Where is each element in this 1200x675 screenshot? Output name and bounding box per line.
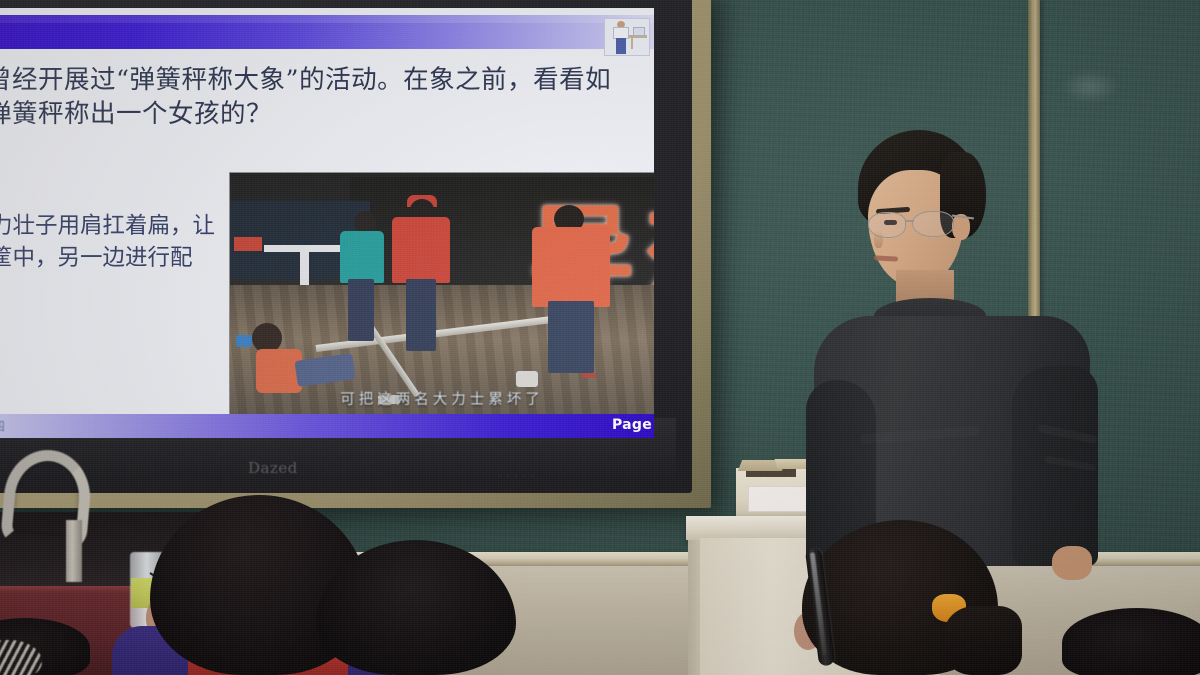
- person-torso: [532, 227, 610, 307]
- display-bezel-mark: · · · · ·: [498, 472, 578, 482]
- clipart-object: [633, 27, 645, 36]
- slide-question-text: 我们曾经开展过“弹簧秤称大象”的活动。在象之前，看看如何用弹簧秤称出一个女孩的？: [0, 63, 634, 131]
- signboard-red-bar: [234, 237, 262, 251]
- slide-header-glow: [0, 15, 654, 23]
- person-legs: [406, 279, 436, 351]
- slide-body: 我们曾经开展过“弹簧秤称大象”的活动。在象之前，看看如何用弹簧秤称出一个女孩的？…: [0, 53, 654, 423]
- clipart-person: [613, 21, 629, 55]
- display-brand-logo: Dazed: [248, 459, 368, 479]
- box-label: [748, 486, 808, 512]
- presentation-slide[interactable]: 我们曾经开展过“弹簧秤称大象”的活动。在象之前，看看如何用弹簧秤称出一个女孩的？…: [0, 8, 654, 438]
- person-legs: [548, 301, 594, 373]
- metal-stand-stem: [66, 520, 82, 582]
- slide-body-text: 两个身强力壮子用肩扛着扁，让女孩坐在筐中，另一边进行配平。: [0, 211, 220, 307]
- person-torso: [392, 217, 450, 283]
- video-person-red: [392, 199, 452, 349]
- video-person-teal: [338, 211, 386, 339]
- teacher-nose: [874, 230, 883, 248]
- glasses-bridge: [906, 220, 914, 222]
- video-white-object: [516, 371, 538, 387]
- person-legs: [348, 279, 374, 341]
- embedded-video-still[interactable]: 异 想: [230, 173, 654, 421]
- slide-red-heading: 学院队: [0, 183, 214, 207]
- glasses-lens-right: [912, 211, 954, 237]
- classroom-photo: Dazed · · · · · 我们曾经开展过“弹簧秤称大象”的活动。在象之前，…: [0, 0, 1200, 675]
- ponytail: [944, 606, 1022, 675]
- teacher-figure: [800, 130, 1100, 550]
- clipart-table-leg: [631, 37, 633, 49]
- person-legs: [294, 353, 355, 387]
- chalk-smudge: [1060, 70, 1120, 104]
- person-torso: [340, 231, 384, 283]
- video-subtitle: 可把这两名大力士累坏了: [230, 388, 654, 409]
- video-person-orange: [532, 205, 610, 367]
- person-at-table-clipart-icon: [604, 18, 650, 56]
- video-red-object: [582, 373, 596, 378]
- slide-page-label: Page: [612, 417, 652, 433]
- slide-footer-bar: [0, 414, 654, 438]
- clipart-legs: [616, 38, 626, 54]
- slide-footer-date: 星期四: [0, 416, 86, 435]
- video-blue-object: [236, 335, 252, 347]
- student-far-right: [1062, 608, 1200, 675]
- teacher-hand: [1052, 546, 1092, 580]
